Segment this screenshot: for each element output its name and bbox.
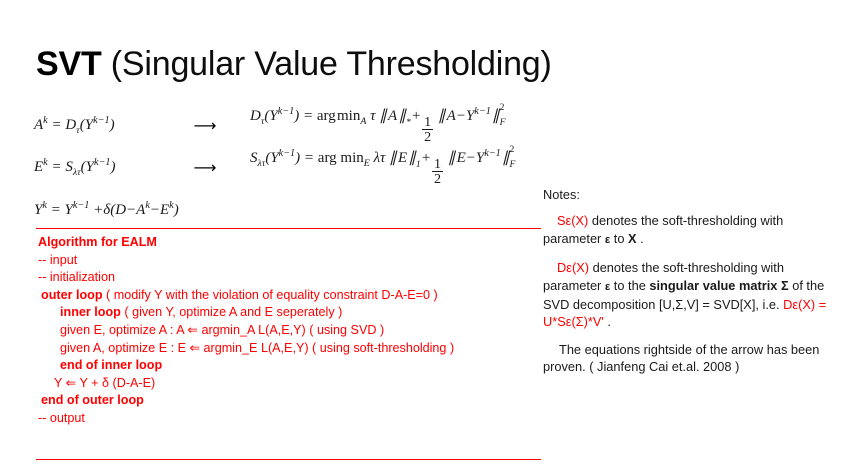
note1-target: X (628, 231, 637, 246)
note-proof-reference: The equations rightside of the arrow has… (543, 341, 843, 376)
outer-loop-desc: ( modify Y with the violation of equalit… (103, 288, 438, 302)
algorithm-line-output: -- output (38, 410, 543, 428)
equation-row-2: Ek = Sλτ(Yk−1) ⟶ Sλτ(Yk−1) = arg minE λτ… (34, 146, 539, 188)
title-bold-part: SVT (36, 45, 102, 83)
note1-symbol: Sε(X) (557, 213, 588, 228)
notes-heading: Notes: (543, 186, 843, 203)
algorithm-block: Algorithm for EALM -- input -- initializ… (38, 234, 543, 428)
title-rest-part: (Singular Value Thresholding) (102, 45, 552, 83)
divider-rule-top (36, 228, 541, 229)
outer-loop-keyword: outer loop (41, 288, 103, 302)
equation-2-lhs: Ek = Sλτ(Yk−1) (34, 157, 158, 178)
note2-symbol: Dε(X) (557, 260, 589, 275)
equation-3-lhs: Yk = Yk−1 +δ(D−Ak−Ek) (34, 200, 179, 219)
algorithm-line-end-outer-loop: end of outer loop (38, 392, 543, 410)
notes-panel: Notes: Sε(X) denotes the soft-thresholdi… (543, 186, 843, 386)
equation-row-1: Ak = Dτ(Yk−1) ⟶ Dτ(Yk−1) = arg minA τ ∥ … (34, 104, 539, 146)
inner-loop-desc: ( given Y, optimize A and E seperately ) (121, 305, 342, 319)
note1-text-b: to (610, 231, 628, 246)
equation-block: Ak = Dτ(Yk−1) ⟶ Dτ(Yk−1) = arg minA τ ∥ … (34, 104, 539, 230)
inner-loop-keyword: inner loop (60, 305, 121, 319)
algorithm-line-outer-loop: outer loop ( modify Y with the violation… (38, 287, 543, 305)
note2-text-b: to the (610, 278, 649, 293)
algorithm-line-optimize-e: given A, optimize E : E ⇐ argmin_E L(A,E… (38, 340, 543, 358)
algorithm-line-input: -- input (38, 252, 543, 270)
equation-1-arrow-icon: ⟶ (158, 116, 250, 135)
page-title: SVT (Singular Value Thresholding) (36, 44, 552, 84)
algorithm-line-update-y: Y ⇐ Y + δ (D-A-E) (38, 375, 543, 393)
equation-1-rhs: Dτ(Yk−1) = arg minA τ ∥ A ∥* +12 ∥ A−Yk−… (250, 106, 500, 145)
equation-1-lhs: Ak = Dτ(Yk−1) (34, 115, 158, 136)
equation-2-arrow-icon: ⟶ (158, 158, 250, 177)
algorithm-line-end-inner-loop: end of inner loop (38, 357, 543, 375)
algorithm-line-initialization: -- initialization (38, 269, 543, 287)
note2-emphasis: singular value matrix Σ (649, 278, 788, 293)
algorithm-line-inner-loop: inner loop ( given Y, optimize A and E s… (38, 304, 543, 322)
note2-text-d: . (604, 314, 611, 329)
note1-text-c: . (637, 231, 644, 246)
algorithm-line-optimize-a: given E, optimize A : A ⇐ argmin_A L(A,E… (38, 322, 543, 340)
note-soft-thresholding: Sε(X) denotes the soft-thresholding with… (543, 212, 843, 249)
algorithm-title: Algorithm for EALM (38, 234, 543, 252)
note-singular-value-thresholding: Dε(X) denotes the soft-thresholding with… (543, 259, 843, 331)
equation-row-3: Yk = Yk−1 +δ(D−Ak−Ek) (34, 188, 539, 230)
divider-rule-bottom (36, 459, 541, 460)
equation-2-rhs: Sλτ(Yk−1) = arg minE λτ ∥ E ∥1 +12 ∥ E−Y… (250, 148, 509, 187)
